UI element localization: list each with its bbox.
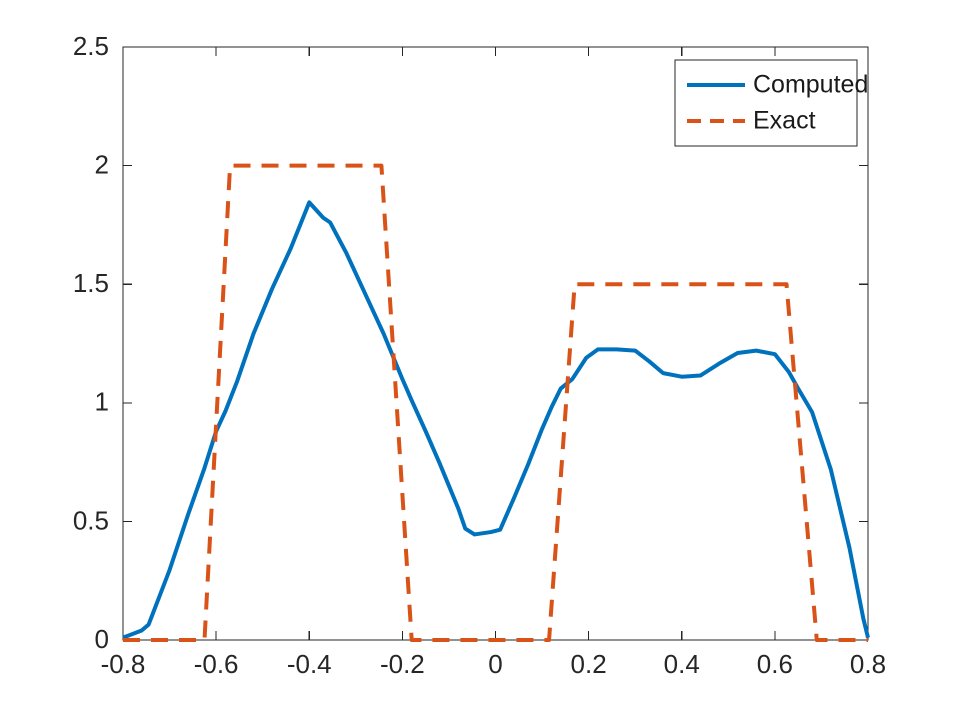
x-tick-label: 0.6: [757, 649, 793, 679]
y-tick-label: 1: [95, 387, 109, 417]
figure-container: 00.511.522.5-0.8-0.6-0.4-0.200.20.40.60.…: [0, 0, 960, 720]
series-computed: [123, 202, 868, 637]
x-tick-label: -0.6: [194, 649, 239, 679]
legend: ComputedExact: [675, 60, 868, 146]
x-tick-label: -0.2: [380, 649, 425, 679]
x-tick-label: 0: [488, 649, 502, 679]
series-exact: [123, 166, 868, 640]
x-tick-label: -0.4: [287, 649, 332, 679]
y-tick-label: 2: [95, 149, 109, 179]
x-tick-label: 0.2: [571, 649, 607, 679]
legend-label-exact: Exact: [753, 107, 816, 135]
series-group: [123, 166, 868, 640]
x-tick-label: -0.8: [101, 649, 146, 679]
y-tick-label: 2.5: [73, 31, 109, 61]
chart-canvas: 00.511.522.5-0.8-0.6-0.4-0.200.20.40.60.…: [0, 0, 960, 720]
y-tick-label: 0.5: [73, 505, 109, 535]
y-tick-label: 1.5: [73, 268, 109, 298]
x-tick-label: 0.8: [850, 649, 886, 679]
x-tick-label: 0.4: [664, 649, 700, 679]
legend-label-computed: Computed: [753, 71, 868, 99]
